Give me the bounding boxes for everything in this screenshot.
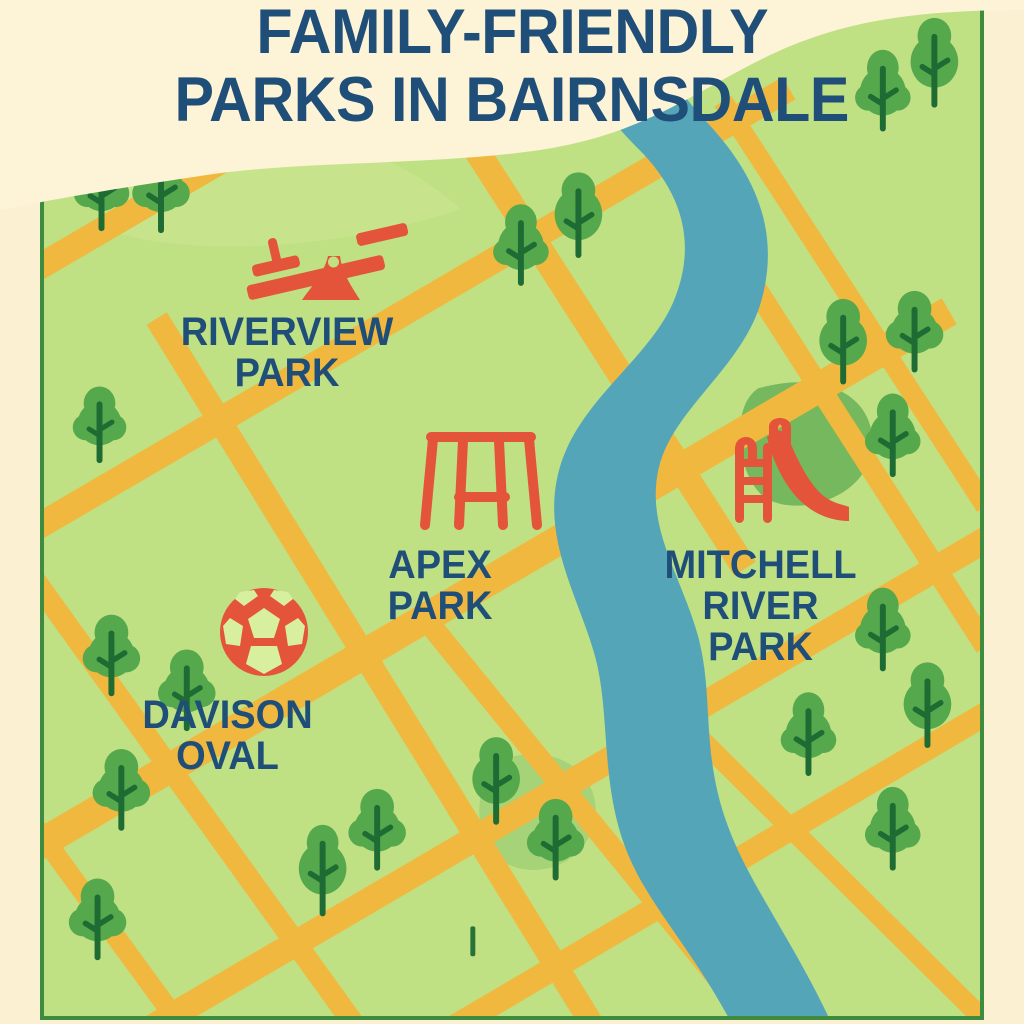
park-label-riverview: RIVERVIEW PARK [149,312,425,394]
swing-set-icon [419,425,543,535]
park-label-mitchell-river: MITCHELL RIVER PARK [635,545,887,667]
park-label-davison-oval: DAVISON OVAL [102,695,354,777]
map-canvas [40,0,984,1020]
park-label-apex: APEX PARK [326,545,554,627]
parks-map-poster: FAMILY-FRIENDLY PARKS IN BAIRNSDALE RIVE… [0,0,1024,1024]
slide-icon [725,415,855,525]
tree-stem-detail [470,926,475,956]
seesaw-icon [240,222,416,312]
soccer-ball-icon [218,586,310,678]
